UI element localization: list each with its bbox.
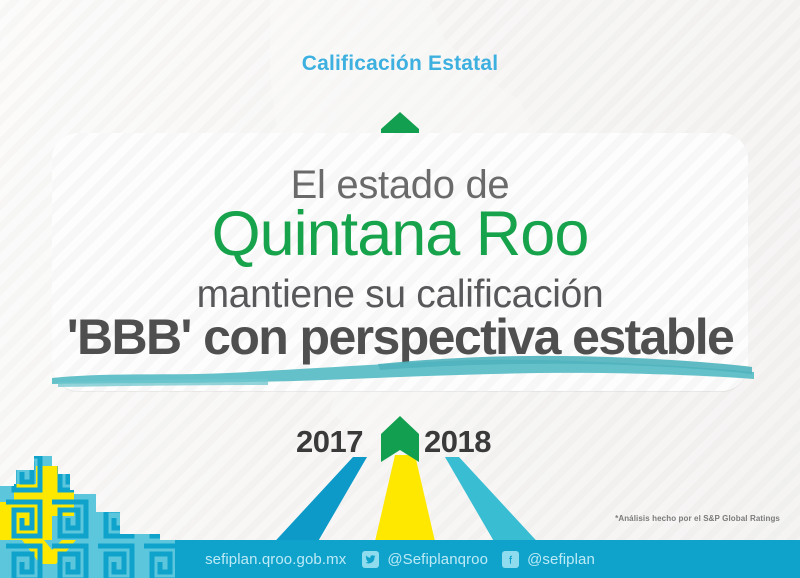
twitter-handle[interactable]: @Sefiplanqroo [387, 551, 488, 568]
year-label-from: 2017 [296, 424, 363, 460]
headline-state-name: Quintana Roo [52, 203, 748, 266]
twitter-bird-icon[interactable] [362, 551, 379, 568]
source-note: *Análisis hecho por el S&P Global Rating… [560, 514, 780, 523]
facebook-f-icon[interactable] [502, 551, 519, 568]
infographic-poster: Calificación Estatal El estado de Quinta… [0, 0, 800, 578]
timeline-roads [255, 455, 555, 550]
footer-website-link[interactable]: sefiplan.qroo.gob.mx [205, 551, 346, 568]
bookmark-chevron-icon-middle [381, 416, 419, 462]
page-kicker: Calificación Estatal [0, 52, 800, 76]
footer-bar: sefiplan.qroo.gob.mx @Sefiplanqroo @sefi… [0, 540, 800, 578]
footer-facebook[interactable]: @sefiplan [502, 551, 595, 568]
brush-stroke-underline [48, 352, 758, 392]
facebook-handle[interactable]: @sefiplan [527, 551, 595, 568]
footer-twitter[interactable]: @Sefiplanqroo [362, 551, 488, 568]
road-center [373, 455, 437, 550]
road-left [267, 457, 367, 550]
road-right [445, 457, 545, 550]
year-label-to: 2018 [424, 424, 491, 460]
